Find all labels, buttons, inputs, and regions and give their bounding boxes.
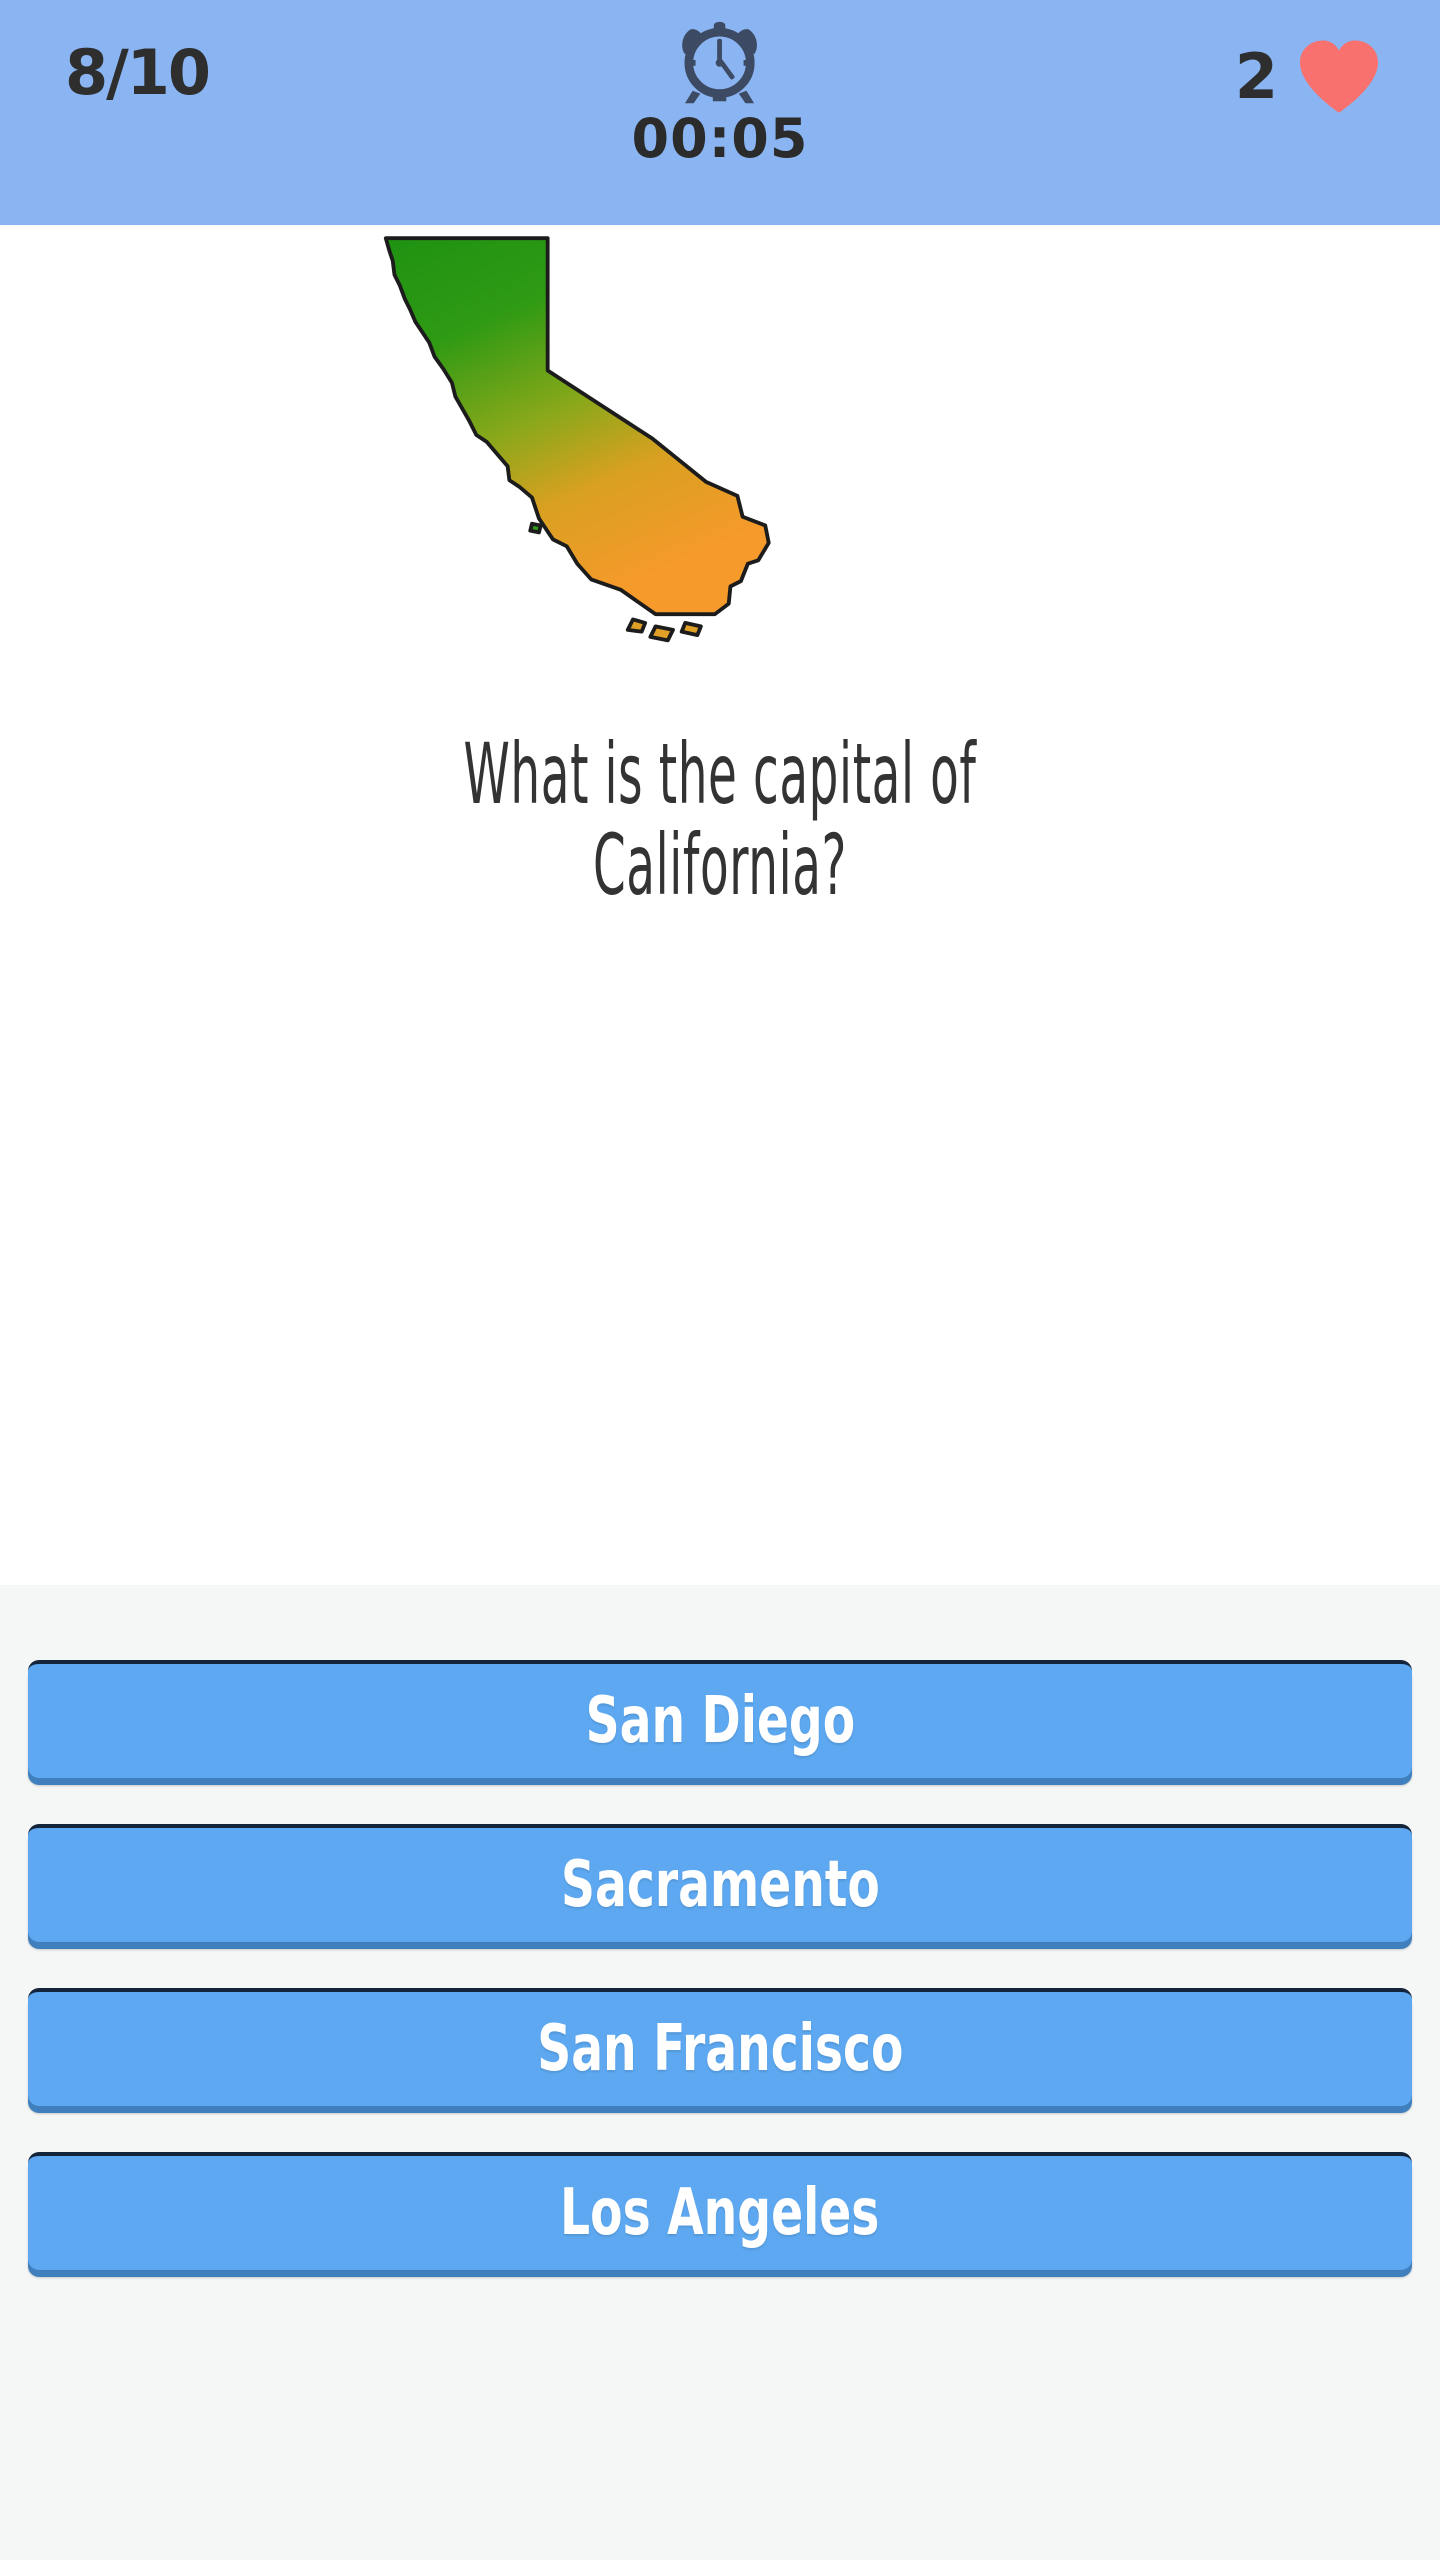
lives-block: 2 (1235, 38, 1382, 116)
answer-option-3[interactable]: San Francisco (28, 1988, 1412, 2106)
question-text: What is the capital of California? (391, 729, 1048, 910)
answer-option-2-label: Sacramento (561, 1848, 880, 1922)
question-image (370, 233, 1070, 703)
question-panel: What is the capital of California? (0, 225, 1440, 1585)
answers-panel: San Diego Sacramento San Francisco Los A… (0, 1585, 1440, 2560)
answer-option-2[interactable]: Sacramento (28, 1824, 1412, 1942)
heart-icon (1296, 38, 1382, 116)
answer-option-1[interactable]: San Diego (28, 1660, 1412, 1778)
answer-option-1-label: San Diego (585, 1684, 855, 1758)
timer-block: 00:05 (632, 12, 809, 166)
question-progress: 8/10 (65, 42, 209, 104)
answer-option-3-label: San Francisco (537, 2012, 903, 2086)
alarm-clock-icon (672, 12, 768, 108)
countdown-timer: 00:05 (632, 112, 809, 166)
answer-option-4[interactable]: Los Angeles (28, 2152, 1412, 2270)
quiz-screen: 8/10 (0, 0, 1440, 2560)
answer-option-4-label: Los Angeles (560, 2176, 879, 2250)
game-header: 8/10 (0, 0, 1440, 225)
lives-count: 2 (1235, 46, 1278, 108)
